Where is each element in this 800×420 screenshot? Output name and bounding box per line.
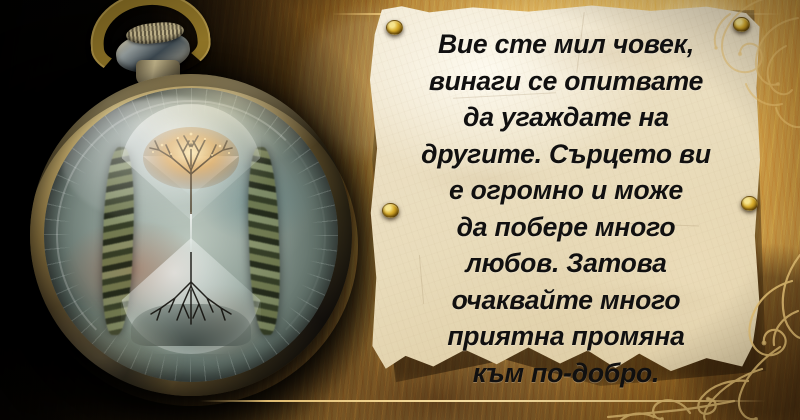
quote-line: другите. Сърцето ви (380, 136, 752, 173)
quote-line: към по-добро. (380, 355, 752, 392)
quote-line: очаквайте много (380, 282, 752, 319)
quote-line: Вие сте мил човек, (380, 26, 752, 63)
watch-dial-face (44, 88, 338, 382)
quote-text: Вие сте мил човек, винаги се опитвате да… (380, 26, 752, 391)
frame-line-bottom (200, 400, 766, 402)
quote-line: да угаждате на (380, 99, 752, 136)
watch-crystal-reflection (62, 97, 280, 226)
quote-line: любов. Затова (380, 245, 752, 282)
quote-line: да побере много (380, 209, 752, 246)
quote-line: винаги се опитвате (380, 63, 752, 100)
quote-line: е огромно и може (380, 172, 752, 209)
quote-card: Вие сте мил човек, винаги се опитвате да… (0, 0, 800, 420)
pocket-watch (8, 0, 368, 420)
watch-brass-case (30, 74, 352, 396)
quote-line: приятна промяна (380, 318, 752, 355)
